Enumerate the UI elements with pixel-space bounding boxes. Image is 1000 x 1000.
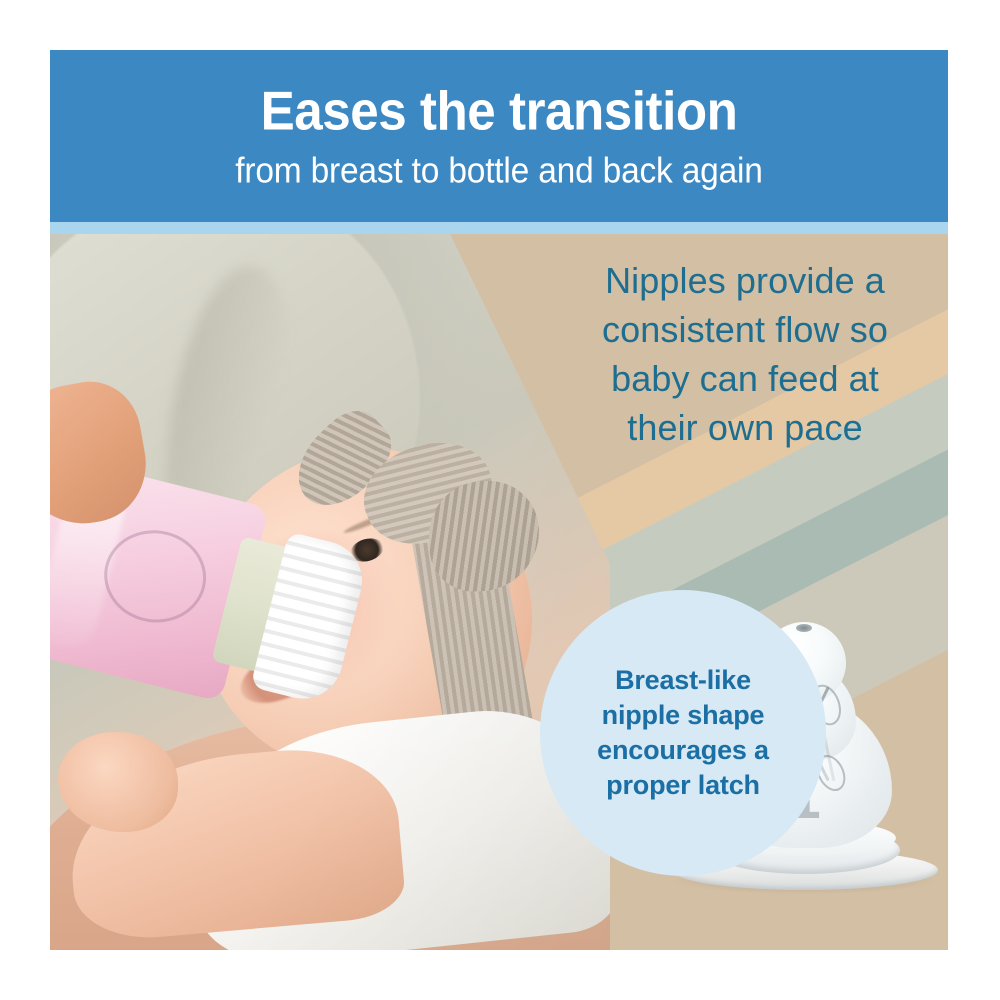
body-copy-line: consistent flow so xyxy=(548,305,942,354)
banner-underline-accent xyxy=(50,222,948,234)
subheadline: from breast to bottle and back again xyxy=(81,153,916,189)
body-copy-line: baby can feed at xyxy=(548,354,942,403)
baby-feeding-photo xyxy=(50,234,610,950)
headline: Eases the transition xyxy=(81,84,916,139)
headband-bow-loop-right xyxy=(427,479,541,593)
body-copy-line: Nipples provide a xyxy=(548,256,942,305)
body-copy-line: their own pace xyxy=(548,403,942,452)
callout-line: proper latch xyxy=(597,768,769,803)
nipple-feeding-hole xyxy=(796,624,812,632)
callout-line: nipple shape xyxy=(597,698,769,733)
callout-circle: Breast-like nipple shape encourages a pr… xyxy=(540,590,826,876)
header-banner: Eases the transition from breast to bott… xyxy=(50,50,948,222)
callout-line: Breast-like xyxy=(597,663,769,698)
banner-text-block: Eases the transition from breast to bott… xyxy=(50,84,948,189)
body-copy: Nipples provide a consistent flow so bab… xyxy=(548,256,942,452)
callout-line: encourages a xyxy=(597,733,769,768)
callout-text: Breast-like nipple shape encourages a pr… xyxy=(585,663,781,803)
product-feature-graphic: Eases the transition from breast to bott… xyxy=(0,0,1000,1000)
main-stage: Nipples provide a consistent flow so bab… xyxy=(50,234,948,950)
